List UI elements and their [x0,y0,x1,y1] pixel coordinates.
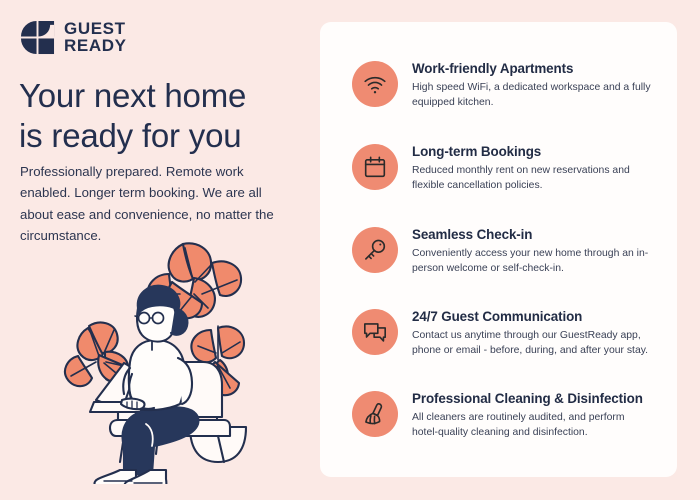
feature-text: 24/7 Guest Communication Contact us anyt… [412,307,652,358]
feature-description: All cleaners are routinely audited, and … [412,411,652,441]
feature-item-professional-cleaning[interactable]: Professional Cleaning & Disinfection All… [352,389,652,440]
feature-item-guest-communication[interactable]: 24/7 Guest Communication Contact us anyt… [352,307,652,358]
page-title: Your next home is ready for you [19,76,309,155]
brand-wordmark: GUEST READY [64,21,127,53]
promo-page: GUEST READY Your next home is ready for … [0,0,700,500]
features-list: Work-friendly Apartments High speed WiFi… [320,22,677,477]
feature-title: Long-term Bookings [412,144,652,161]
feature-description: High speed WiFi, a dedicated workspace a… [412,81,652,111]
wifi-icon [352,61,398,107]
feature-description: Conveniently access your new home throug… [412,247,652,277]
feature-text: Seamless Check-in Conveniently access yo… [412,225,652,276]
feature-title: Professional Cleaning & Disinfection [412,391,652,408]
features-card: Work-friendly Apartments High speed WiFi… [320,22,677,477]
guestready-logo-icon [20,20,55,55]
feature-title: Seamless Check-in [412,227,652,244]
feature-title: Work-friendly Apartments [412,61,652,78]
feature-description: Contact us anytime through our GuestRead… [412,329,652,359]
broom-icon [352,391,398,437]
feature-text: Professional Cleaning & Disinfection All… [412,389,652,440]
key-icon [352,227,398,273]
chat-bubbles-icon [352,309,398,355]
brand-name-line-2: READY [64,38,127,54]
feature-title: 24/7 Guest Communication [412,309,652,326]
feature-text: Long-term Bookings Reduced monthly rent … [412,142,652,193]
feature-description: Reduced monthly rent on new reservations… [412,164,652,194]
left-column: GUEST READY Your next home is ready for … [0,0,320,500]
brand-logo[interactable]: GUEST READY [20,20,127,55]
feature-item-long-term-bookings[interactable]: Long-term Bookings Reduced monthly rent … [352,142,652,193]
feature-text: Work-friendly Apartments High speed WiFi… [412,59,652,110]
feature-item-work-friendly-apartments[interactable]: Work-friendly Apartments High speed WiFi… [352,59,652,110]
woman-with-laptop-in-chair-with-plants-illustration [32,222,320,484]
calendar-icon [352,144,398,190]
feature-item-seamless-check-in[interactable]: Seamless Check-in Conveniently access yo… [352,225,652,276]
